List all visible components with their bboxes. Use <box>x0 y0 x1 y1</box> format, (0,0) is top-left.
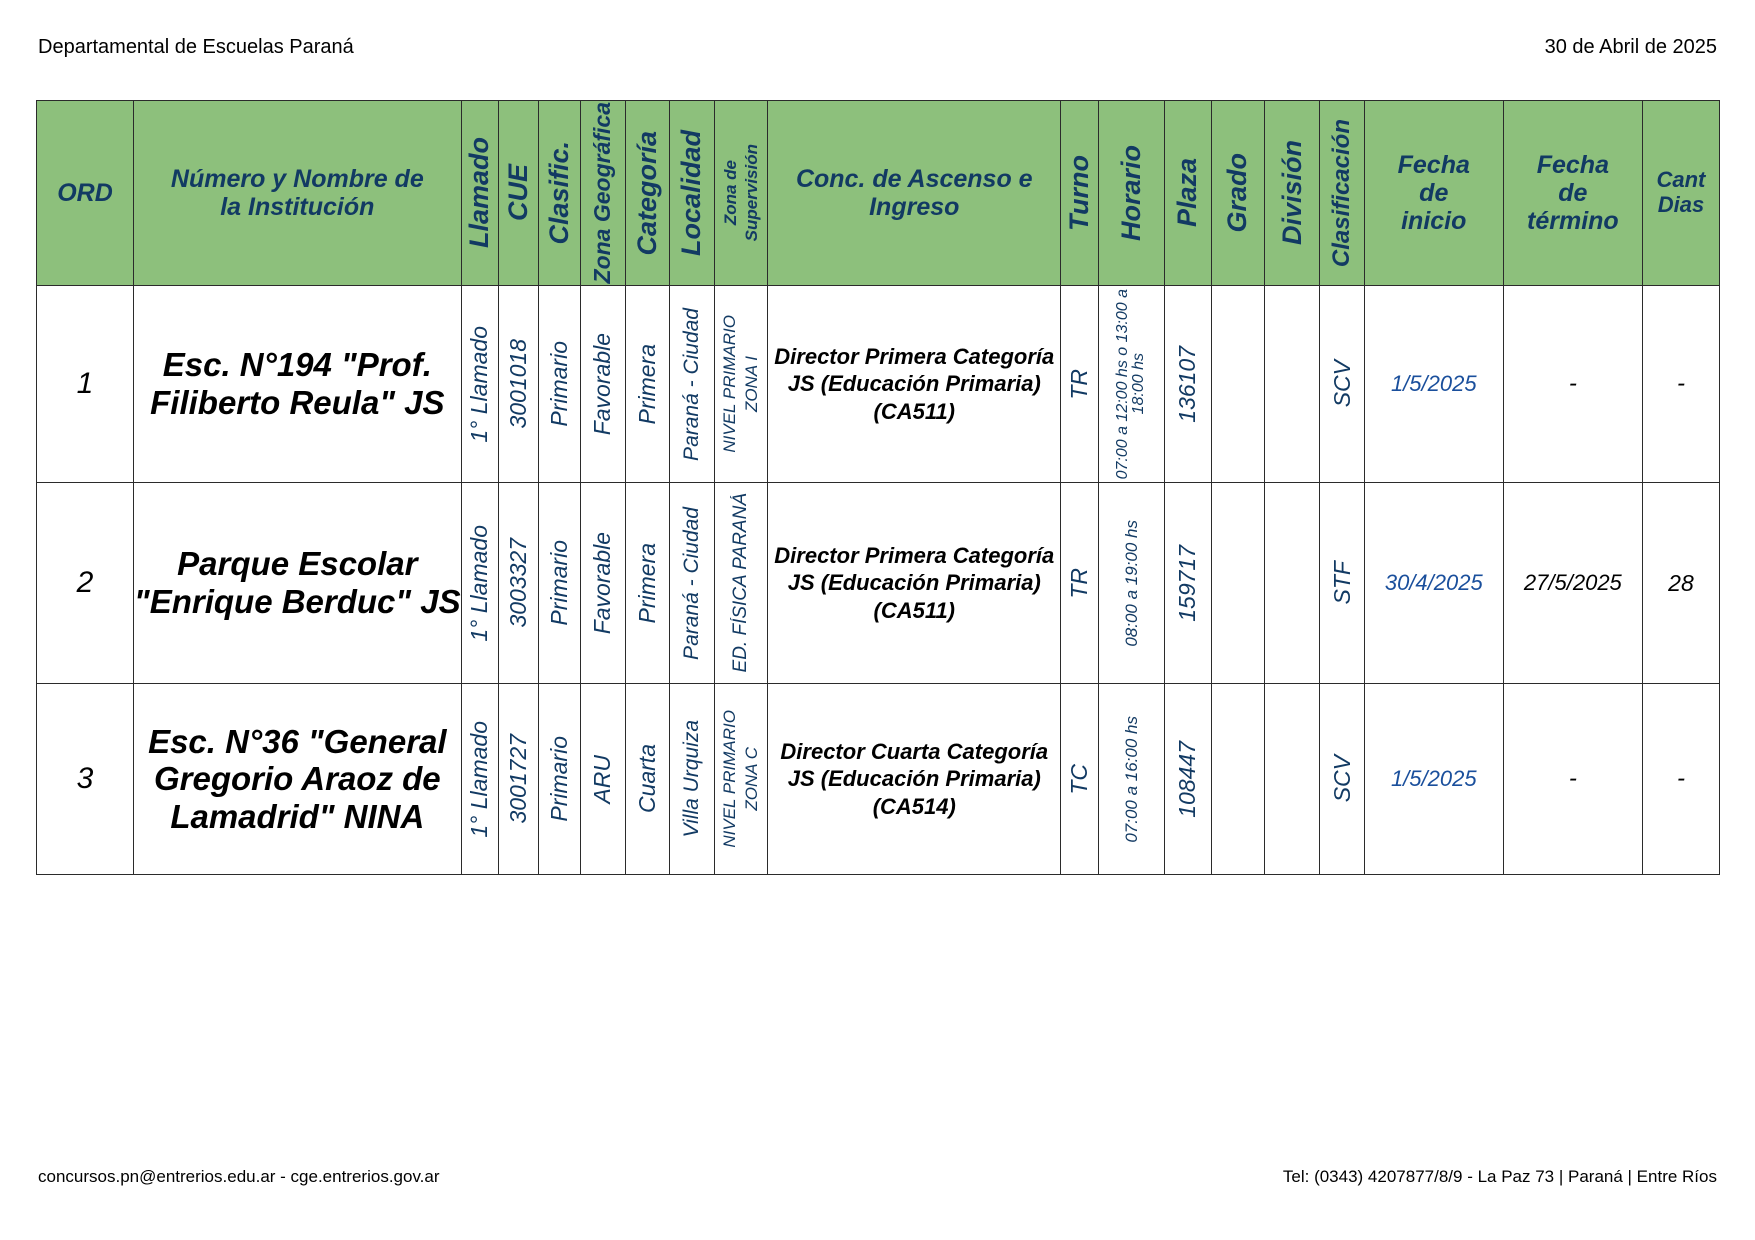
cell-plaza-value: 159717 <box>1176 545 1199 622</box>
column-header-clasific: Clasific. <box>538 101 580 286</box>
cell-cue-value: 3003327 <box>507 538 530 628</box>
cell-horario: 07:00 a 16:00 hs <box>1099 684 1164 875</box>
cell-zona-geografica-value: Favorable <box>591 532 614 634</box>
column-header-fecha-termino-line3: término <box>1504 207 1642 235</box>
cell-fecha-inicio: 1/5/2025 <box>1364 286 1503 483</box>
cell-cue: 3003327 <box>498 483 538 684</box>
cell-fecha-termino: - <box>1503 684 1642 875</box>
cell-cue: 3001727 <box>498 684 538 875</box>
cell-zona-geografica-value: ARU <box>591 755 614 804</box>
cell-clasificacion-value: SCV <box>1331 360 1354 407</box>
cell-clasificacion-value: SCV <box>1331 755 1354 802</box>
cell-ord: 1 <box>37 286 134 483</box>
cell-concurso-line3: (CA511) <box>768 597 1060 625</box>
column-header-institucion-line2: la Institución <box>134 193 461 221</box>
cell-clasificacion: SCV <box>1320 286 1364 483</box>
cell-division <box>1264 483 1320 684</box>
column-header-zona-geografica-label: Zona Geográfica <box>591 102 614 283</box>
cell-localidad-value: Paraná - Ciudad <box>681 308 702 461</box>
cell-concurso-line1: Director Primera Categoría <box>768 542 1060 570</box>
cell-zona-geografica-value: Favorable <box>591 333 614 435</box>
cell-concurso-line1: Director Primera Categoría <box>768 343 1060 371</box>
column-header-localidad-label: Localidad <box>678 130 705 256</box>
column-header-ord: ORD <box>37 101 134 286</box>
cell-concurso-line2: JS (Educación Primaria) <box>768 370 1060 398</box>
column-header-llamado-label: Llamado <box>466 137 493 248</box>
cell-zona-geografica: Favorable <box>580 483 625 684</box>
cell-institucion: Parque Escolar "Enrique Berduc" JS <box>133 483 461 684</box>
cell-fecha-termino: - <box>1503 286 1642 483</box>
column-header-grado: Grado <box>1211 101 1264 286</box>
cell-cant-dias: 28 <box>1642 483 1719 684</box>
cell-clasificacion: STF <box>1320 483 1364 684</box>
column-header-turno-label: Turno <box>1066 155 1093 231</box>
cell-plaza-value: 108447 <box>1176 741 1199 818</box>
cell-zona-supervision: NIVEL PRIMARIO ZONA C <box>714 684 768 875</box>
cell-localidad-value: Paraná - Ciudad <box>681 507 702 660</box>
column-header-concurso-line1: Conc. de Ascenso e <box>768 165 1060 193</box>
cell-zona-geografica: Favorable <box>580 286 625 483</box>
cell-turno-value: TC <box>1068 764 1091 795</box>
cell-plaza: 136107 <box>1164 286 1211 483</box>
cell-turno: TR <box>1061 286 1099 483</box>
cell-concurso-line3: (CA511) <box>768 398 1060 426</box>
cell-clasificacion-value: STF <box>1331 561 1354 604</box>
cell-clasific-value: Primario <box>548 341 571 427</box>
cell-clasificacion: SCV <box>1320 684 1364 875</box>
cell-concurso: Director Cuarta Categoría JS (Educación … <box>768 684 1061 875</box>
cell-plaza: 159717 <box>1164 483 1211 684</box>
column-header-cant-dias: Cant Dias <box>1642 101 1719 286</box>
column-header-plaza-label: Plaza <box>1174 158 1201 227</box>
cell-categoria: Cuarta <box>626 684 670 875</box>
cell-localidad: Paraná - Ciudad <box>670 286 714 483</box>
cell-llamado-value: 1° Llamado <box>468 525 491 642</box>
column-header-zona-supervision-line2: Supervisión <box>741 144 762 241</box>
column-header-division-label: División <box>1279 140 1306 245</box>
column-header-fecha-inicio: Fecha de inicio <box>1364 101 1503 286</box>
cell-zona-geografica: ARU <box>580 684 625 875</box>
cell-llamado: 1° Llamado <box>461 286 498 483</box>
cell-zona-supervision-line1: ED. FÍSICA PARANÁ <box>731 493 750 672</box>
cell-concurso-line3: (CA514) <box>768 793 1060 821</box>
footer-contact-email: concursos.pn@entrerios.edu.ar - cge.entr… <box>38 1168 440 1187</box>
cell-llamado: 1° Llamado <box>461 684 498 875</box>
cell-categoria: Primera <box>626 286 670 483</box>
cell-horario-line1: 07:00 a 12:00 hs o 13:00 a <box>1115 289 1131 479</box>
cell-llamado-value: 1° Llamado <box>468 721 491 838</box>
cell-horario-line2: 18:00 hs <box>1131 353 1147 414</box>
cell-ord: 2 <box>37 483 134 684</box>
column-header-cant-dias-line2: Dias <box>1643 193 1719 218</box>
cell-zona-supervision-line1: NIVEL PRIMARIO <box>719 315 741 453</box>
cell-zona-supervision: NIVEL PRIMARIO ZONA I <box>714 286 768 483</box>
cell-turno-value: TR <box>1068 568 1091 599</box>
cell-horario: 08:00 a 19:00 hs <box>1099 483 1164 684</box>
column-header-horario-label: Horario <box>1118 145 1145 241</box>
cell-zona-supervision-line2: ZONA C <box>741 747 763 811</box>
table-row: 2 Parque Escolar "Enrique Berduc" JS 1° … <box>37 483 1720 684</box>
cell-division <box>1264 684 1320 875</box>
column-header-llamado: Llamado <box>461 101 498 286</box>
column-header-plaza: Plaza <box>1164 101 1211 286</box>
column-header-concurso: Conc. de Ascenso e Ingreso <box>768 101 1061 286</box>
cell-grado <box>1211 286 1264 483</box>
cell-ord: 3 <box>37 684 134 875</box>
cell-plaza-value: 136107 <box>1176 346 1199 423</box>
cell-cue-value: 3001018 <box>507 339 530 429</box>
cell-zona-supervision-line1: NIVEL PRIMARIO <box>719 710 741 848</box>
column-header-clasificacion-label: Clasificación <box>1330 119 1354 267</box>
vacancies-table: ORD Número y Nombre de la Institución Ll… <box>36 100 1720 875</box>
cell-fecha-inicio: 1/5/2025 <box>1364 684 1503 875</box>
document-header: Departamental de Escuelas Paraná 30 de A… <box>38 36 1717 64</box>
cell-zona-supervision: ED. FÍSICA PARANÁ <box>714 483 768 684</box>
column-header-cue-label: CUE <box>505 164 532 221</box>
cell-horario: 07:00 a 12:00 hs o 13:00 a 18:00 hs <box>1099 286 1164 483</box>
cell-llamado-value: 1° Llamado <box>468 326 491 443</box>
cell-fecha-inicio: 30/4/2025 <box>1364 483 1503 684</box>
cell-grado <box>1211 684 1264 875</box>
column-header-localidad: Localidad <box>670 101 714 286</box>
document-page: Departamental de Escuelas Paraná 30 de A… <box>0 0 1755 1240</box>
column-header-turno: Turno <box>1061 101 1099 286</box>
header-office-name: Departamental de Escuelas Paraná <box>38 36 354 58</box>
column-header-fecha-termino-line2: de <box>1504 179 1642 207</box>
cell-clasific-value: Primario <box>548 736 571 822</box>
column-header-zona-supervision-line1: Zona de <box>720 160 741 225</box>
cell-concurso: Director Primera Categoría JS (Educación… <box>768 286 1061 483</box>
cell-categoria-value: Primera <box>636 543 659 624</box>
footer-contact-phone-address: Tel: (0343) 4207877/8/9 - La Paz 73 | Pa… <box>1283 1168 1717 1187</box>
table-header-row: ORD Número y Nombre de la Institución Ll… <box>37 101 1720 286</box>
column-header-zona-supervision: Zona de Supervisión <box>714 101 768 286</box>
column-header-horario: Horario <box>1099 101 1164 286</box>
column-header-cue: CUE <box>498 101 538 286</box>
column-header-grado-label: Grado <box>1224 153 1251 233</box>
cell-institucion: Esc. N°36 "General Gregorio Araoz de Lam… <box>133 684 461 875</box>
cell-llamado: 1° Llamado <box>461 483 498 684</box>
cell-localidad-value: Villa Urquiza <box>681 720 702 838</box>
document-footer: concursos.pn@entrerios.edu.ar - cge.entr… <box>38 1168 1717 1194</box>
cell-horario-line1: 07:00 a 16:00 hs <box>1123 716 1140 843</box>
header-date: 30 de Abril de 2025 <box>1545 36 1717 58</box>
cell-cant-dias: - <box>1642 684 1719 875</box>
column-header-categoria: Categoría <box>626 101 670 286</box>
column-header-clasificacion: Clasificación <box>1320 101 1364 286</box>
column-header-institucion: Número y Nombre de la Institución <box>133 101 461 286</box>
cell-clasific: Primario <box>538 286 580 483</box>
cell-grado <box>1211 483 1264 684</box>
column-header-fecha-termino-line1: Fecha <box>1504 151 1642 179</box>
cell-institucion: Esc. N°194 "Prof. Filiberto Reula" JS <box>133 286 461 483</box>
cell-turno-value: TR <box>1068 369 1091 400</box>
column-header-institucion-line1: Número y Nombre de <box>134 165 461 193</box>
column-header-fecha-inicio-line1: Fecha <box>1365 151 1503 179</box>
cell-cue: 3001018 <box>498 286 538 483</box>
cell-localidad: Villa Urquiza <box>670 684 714 875</box>
column-header-zona-geografica: Zona Geográfica <box>580 101 625 286</box>
cell-concurso: Director Primera Categoría JS (Educación… <box>768 483 1061 684</box>
cell-cue-value: 3001727 <box>507 734 530 824</box>
cell-plaza: 108447 <box>1164 684 1211 875</box>
column-header-fecha-inicio-line3: inicio <box>1365 207 1503 235</box>
column-header-division: División <box>1264 101 1320 286</box>
column-header-fecha-termino: Fecha de término <box>1503 101 1642 286</box>
cell-clasific-value: Primario <box>548 540 571 626</box>
table-row: 1 Esc. N°194 "Prof. Filiberto Reula" JS … <box>37 286 1720 483</box>
cell-fecha-termino: 27/5/2025 <box>1503 483 1642 684</box>
cell-cant-dias: - <box>1642 286 1719 483</box>
cell-concurso-line1: Director Cuarta Categoría <box>768 738 1060 766</box>
cell-turno: TR <box>1061 483 1099 684</box>
cell-horario-line1: 08:00 a 19:00 hs <box>1123 520 1140 647</box>
column-header-fecha-inicio-line2: de <box>1365 179 1503 207</box>
column-header-clasific-label: Clasific. <box>546 141 573 245</box>
column-header-cant-dias-line1: Cant <box>1643 168 1719 193</box>
column-header-categoria-label: Categoría <box>634 131 661 256</box>
cell-categoria: Primera <box>626 483 670 684</box>
vacancies-table-container: ORD Número y Nombre de la Institución Ll… <box>36 100 1720 875</box>
column-header-concurso-line2: Ingreso <box>768 193 1060 221</box>
cell-categoria-value: Primera <box>636 344 659 425</box>
cell-zona-supervision-line2: ZONA I <box>741 356 763 412</box>
table-row: 3 Esc. N°36 "General Gregorio Araoz de L… <box>37 684 1720 875</box>
cell-concurso-line2: JS (Educación Primaria) <box>768 569 1060 597</box>
cell-clasific: Primario <box>538 684 580 875</box>
cell-clasific: Primario <box>538 483 580 684</box>
cell-division <box>1264 286 1320 483</box>
cell-turno: TC <box>1061 684 1099 875</box>
cell-localidad: Paraná - Ciudad <box>670 483 714 684</box>
cell-categoria-value: Cuarta <box>636 744 659 813</box>
cell-concurso-line2: JS (Educación Primaria) <box>768 765 1060 793</box>
